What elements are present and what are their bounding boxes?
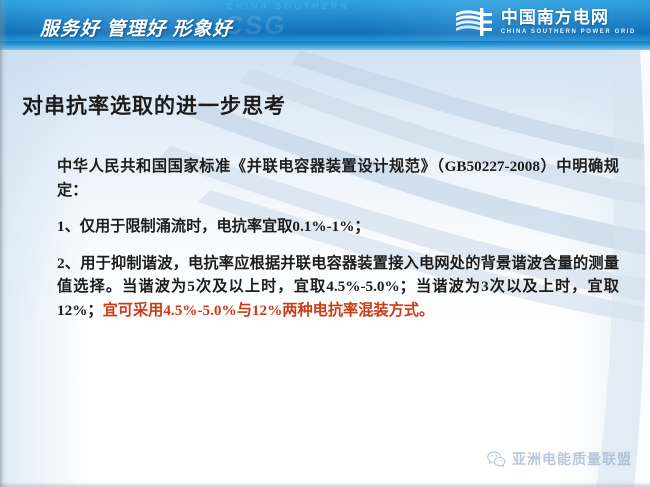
- watermark-text: 亚洲电能质量联盟: [512, 449, 632, 469]
- paragraph-standard-intro: 中华人民共和国国家标准《并联电容器装置设计规范》（GB50227-2008）中明…: [57, 155, 619, 202]
- paragraph-item-1: 1、仅用于限制涌流时，电抗率宜取0.1%-1%；: [57, 215, 619, 239]
- logo-chinese-name: 中国南方电网: [501, 9, 609, 27]
- paragraph-text: 中华人民共和国国家标准《并联电容器装置设计规范》（GB50227-2008）中明…: [57, 158, 619, 199]
- csg-grid-logo-icon: [454, 6, 494, 38]
- scan-edge-left: [0, 0, 7, 487]
- slide-header-band: CHINA SOUTHERN CSG 服务好 管理好 形象好 中国南方电网 CH…: [0, 0, 650, 50]
- scan-edge-bottom: [0, 482, 650, 487]
- logo-english-name: CHINA SOUTHERN POWER GRID: [501, 29, 636, 36]
- company-logo: 中国南方电网 CHINA SOUTHERN POWER GRID: [454, 6, 636, 38]
- header-slogan: 服务好 管理好 形象好: [40, 14, 233, 41]
- header-bottom-strip: [0, 41, 650, 50]
- slide-body: 中华人民共和国国家标准《并联电容器装置设计规范》（GB50227-2008）中明…: [57, 155, 619, 322]
- header-ghost-small-text: CHINA SOUTHERN: [226, 2, 350, 11]
- bottom-watermark: 亚洲电能质量联盟: [487, 449, 632, 469]
- slide-canvas: CHINA SOUTHERN CSG 服务好 管理好 形象好 中国南方电网 CH…: [0, 0, 650, 487]
- paragraph-item-2: 2、用于抑制谐波，电抗率应根据并联电容器装置接入电网处的背景谐波含量的测量值选择…: [57, 252, 619, 323]
- logo-text-group: 中国南方电网 CHINA SOUTHERN POWER GRID: [501, 9, 636, 35]
- paragraph-text: 1、仅用于限制涌流时，电抗率宜取0.1%-1%；: [57, 218, 370, 235]
- paragraph-highlight-text: 宜可采用4.5%-5.0%与12%两种电抗率混装方式。: [103, 302, 435, 319]
- header-ghost-watermark: CHINA SOUTHERN CSG: [223, 2, 350, 38]
- wechat-icon: [487, 451, 506, 468]
- slide-title: 对串抗率选取的进一步思考: [22, 90, 286, 120]
